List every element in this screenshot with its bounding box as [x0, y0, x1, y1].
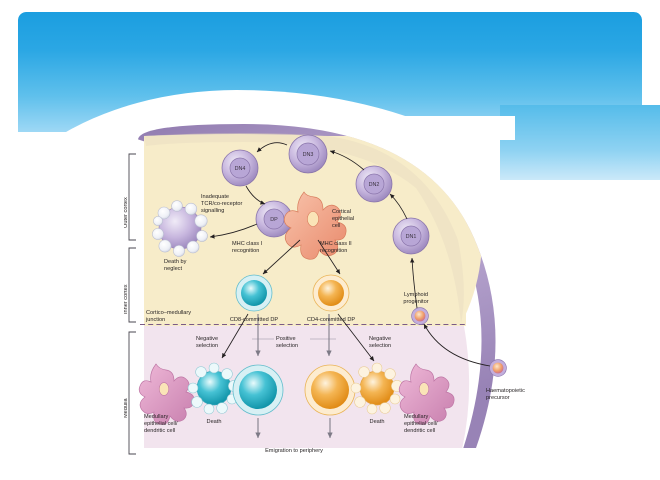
thymus-development-figure: Outer cortex Inner cortex Medulla DN4 DN… [124, 118, 544, 463]
label-mhc1-1: MHC class I [232, 241, 263, 247]
label-positive-selection-1: Positive [276, 336, 296, 342]
cell-cd4-committed-dp [313, 275, 349, 311]
label-inadequate-2: TCR/co-receptor [201, 201, 242, 207]
label-cortico-medullary-2: junction [145, 317, 165, 323]
cell-label-dn2: DN2 [369, 182, 380, 188]
cell-label-dn1: DN1 [406, 234, 417, 240]
label-mhc1-2: recognition [232, 248, 259, 254]
label-med-epi-left-3: dendritic cell [144, 428, 175, 434]
bracket-label-outer-cortex: Outer cortex [124, 197, 129, 228]
cell-label-dp: DP [270, 217, 278, 223]
cell-lymphoid-progenitor [412, 308, 429, 325]
label-haematopoietic-2: precursor [486, 395, 510, 401]
bracket-label-medulla: Medulla [124, 398, 129, 418]
cell-dn1: DN1 [393, 218, 429, 254]
bracket-inner-cortex: Inner cortex [124, 248, 136, 322]
label-med-epi-right-2: epithelial cell/ [404, 421, 438, 427]
label-death-cd8: Death [207, 419, 222, 425]
label-cortical-epithelial-1: Cortical [332, 209, 351, 215]
bracket-label-inner-cortex: Inner cortex [124, 284, 129, 314]
label-med-epi-left-2: epithelial cell/ [144, 421, 178, 427]
label-death-by-neglect-2: neglect [164, 266, 182, 272]
cell-dn2: DN2 [356, 166, 392, 202]
label-inadequate-3: signalling [201, 208, 224, 214]
cell-haematopoietic-precursor [490, 360, 507, 377]
label-cd4-committed-dp: CD4-committed DP [307, 317, 355, 323]
label-med-epi-right-3: dendritic cell [404, 428, 435, 434]
cell-mature-cd4 [305, 365, 355, 415]
label-negative-selection-right-1: Negative [369, 336, 391, 342]
bracket-medulla: Medulla [124, 332, 136, 454]
label-cd8-committed-dp: CD8-committed DP [230, 317, 278, 323]
label-med-epi-left-1: Medullary [144, 414, 168, 420]
cell-dn3: DN3 [289, 135, 327, 173]
label-death-by-neglect-1: Death by [164, 259, 187, 265]
label-emigration-to-periphery: Emigration to periphery [265, 448, 323, 454]
label-death-cd4: Death [370, 419, 385, 425]
label-negative-selection-left-2: selection [196, 343, 218, 349]
label-cortical-epithelial-2: epithelial [332, 216, 354, 222]
label-mhc2-1: MHC class II [320, 241, 352, 247]
cell-cd8-committed-dp [236, 275, 272, 311]
label-negative-selection-right-2: selection [369, 343, 391, 349]
bracket-outer-cortex: Outer cortex [124, 154, 136, 240]
label-cortical-epithelial-3: cell [332, 223, 340, 229]
cell-dn4: DN4 [222, 150, 258, 186]
label-med-epi-right-1: Medullary [404, 414, 428, 420]
label-inadequate-1: Inadequate [201, 194, 229, 200]
label-positive-selection-2: selection [276, 343, 298, 349]
label-haematopoietic-1: Haematopoietic [486, 388, 525, 394]
cell-label-dn4: DN4 [235, 166, 246, 172]
label-cortico-medullary-1: Cortico–medullary [146, 310, 191, 316]
slide-canvas: Outer cortex Inner cortex Medulla DN4 DN… [0, 0, 660, 480]
label-negative-selection-left-1: Negative [196, 336, 218, 342]
cell-mature-cd8 [233, 365, 283, 415]
cell-label-dn3: DN3 [303, 152, 314, 158]
